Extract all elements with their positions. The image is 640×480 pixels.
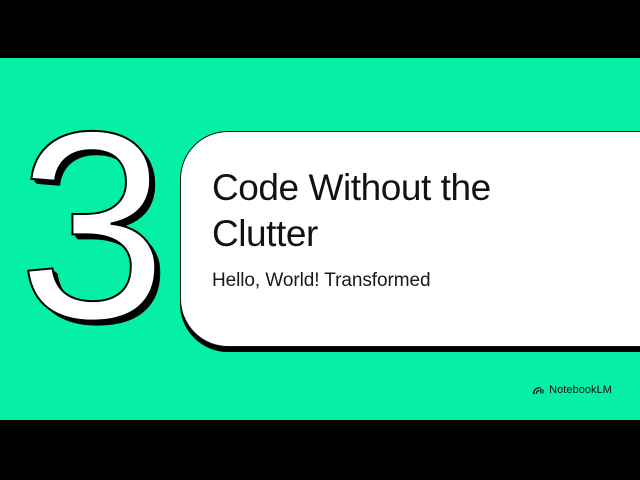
page-subtitle: Hello, World! Transformed xyxy=(212,269,629,293)
notebooklm-spiral-icon xyxy=(532,383,545,396)
page-title: Code Without the Clutter xyxy=(212,165,572,257)
letterbox-bar-top xyxy=(0,0,640,58)
title-card: Code Without the Clutter Hello, World! T… xyxy=(180,131,640,347)
letterbox-bar-bottom xyxy=(0,420,640,480)
title-card-content: Code Without the Clutter Hello, World! T… xyxy=(212,165,629,293)
step-number: 3 xyxy=(18,120,168,330)
notebooklm-brand-label: NotebookLM xyxy=(549,384,612,396)
slide-frame: 3 Code Without the Clutter Hello, World!… xyxy=(0,0,640,480)
slide-canvas: 3 Code Without the Clutter Hello, World!… xyxy=(0,58,640,420)
notebooklm-brand-lockup: NotebookLM xyxy=(532,383,612,396)
